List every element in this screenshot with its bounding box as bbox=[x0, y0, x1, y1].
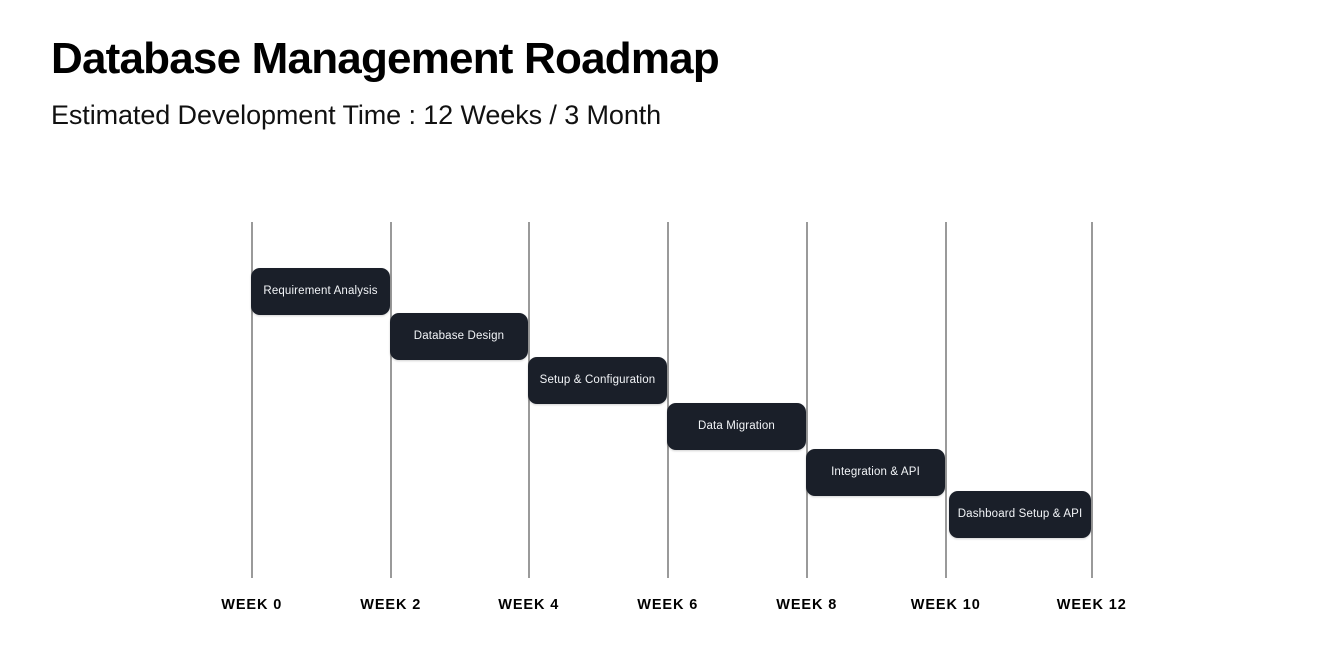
task-bar-label: Database Design bbox=[414, 329, 504, 343]
task-bar-label: Setup & Configuration bbox=[540, 373, 656, 387]
task-bar-label: Dashboard Setup & API bbox=[958, 507, 1083, 521]
gantt-chart: Database Management Roadmap Estimated De… bbox=[0, 0, 1338, 664]
task-bar[interactable]: Requirement Analysis bbox=[251, 268, 390, 315]
task-bar-label: Integration & API bbox=[831, 465, 920, 479]
task-bar[interactable]: Integration & API bbox=[806, 449, 945, 496]
task-bar[interactable]: Data Migration bbox=[667, 403, 806, 450]
task-bar-label: Data Migration bbox=[698, 419, 775, 433]
task-bar[interactable]: Database Design bbox=[390, 313, 528, 360]
task-bars-layer: Requirement AnalysisDatabase DesignSetup… bbox=[0, 0, 1338, 664]
task-bar[interactable]: Setup & Configuration bbox=[528, 357, 667, 404]
task-bar-label: Requirement Analysis bbox=[263, 284, 377, 298]
task-bar[interactable]: Dashboard Setup & API bbox=[949, 491, 1091, 538]
